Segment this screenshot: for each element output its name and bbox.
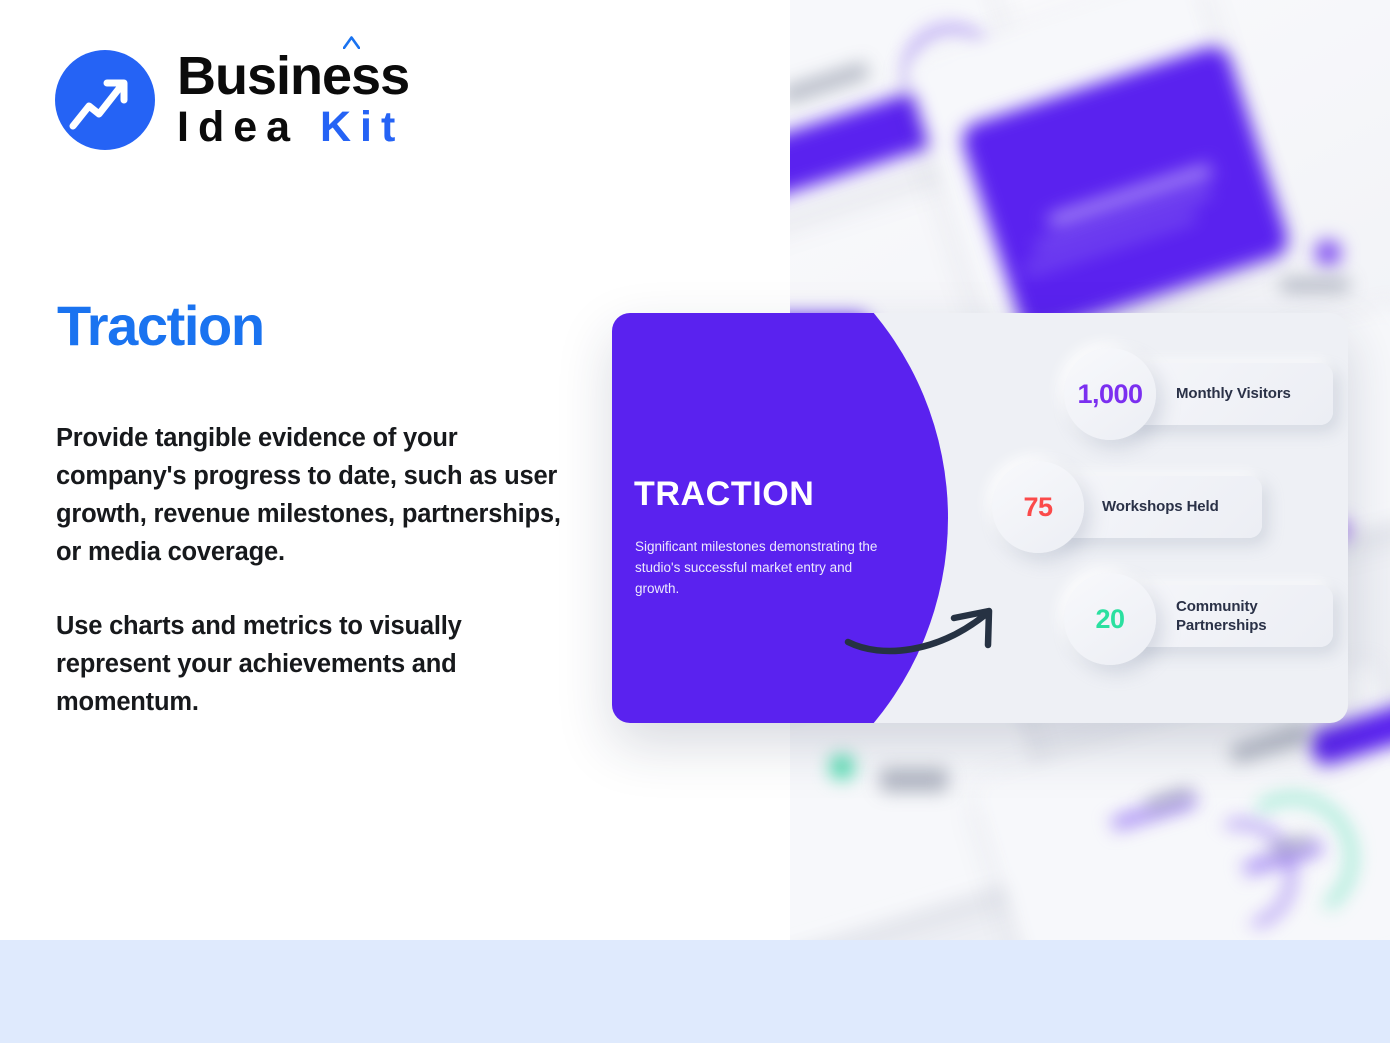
paragraph-2: Use charts and metrics to visually repre… — [56, 608, 566, 722]
traction-slide-card[interactable]: TRACTION Significant milestones demonstr… — [612, 313, 1348, 723]
slide-title: TRACTION — [634, 477, 814, 511]
brand-name-line2: Idea Kit — [177, 105, 409, 150]
page-title: Traction — [57, 297, 264, 356]
stat-label: Monthly Visitors — [1176, 384, 1291, 403]
paragraph-1: Provide tangible evidence of your compan… — [56, 420, 566, 572]
stat-bubble: 20 — [1064, 573, 1156, 665]
stat-value: 20 — [1095, 604, 1124, 635]
stat-bubble: 1,000 — [1064, 348, 1156, 440]
stat-value: 75 — [1023, 492, 1052, 523]
brand-kit-text: Kit — [320, 103, 404, 151]
stat-bubble: 75 — [992, 461, 1084, 553]
curved-up-right-arrow-icon — [842, 593, 1012, 668]
stat-value: 1,000 — [1077, 379, 1142, 410]
brand-name-text: Business — [177, 46, 409, 106]
brand-logo: Business Idea Kit — [55, 49, 409, 150]
circumflex-accent-icon — [343, 36, 360, 49]
brand-idea-text: Idea — [177, 103, 320, 151]
brand-name-line1: Business — [177, 49, 409, 103]
slide-page: Business Idea Kit Traction Provide tangi… — [0, 0, 1390, 1043]
growth-chart-arrow-icon — [55, 50, 155, 150]
stat-label: Community Partnerships — [1176, 597, 1333, 635]
description-text: Provide tangible evidence of your compan… — [56, 420, 566, 722]
stat-label: Workshops Held — [1102, 497, 1219, 516]
slide-subtitle: Significant milestones demonstrating the… — [635, 537, 897, 600]
footer-bar — [0, 940, 1390, 1043]
